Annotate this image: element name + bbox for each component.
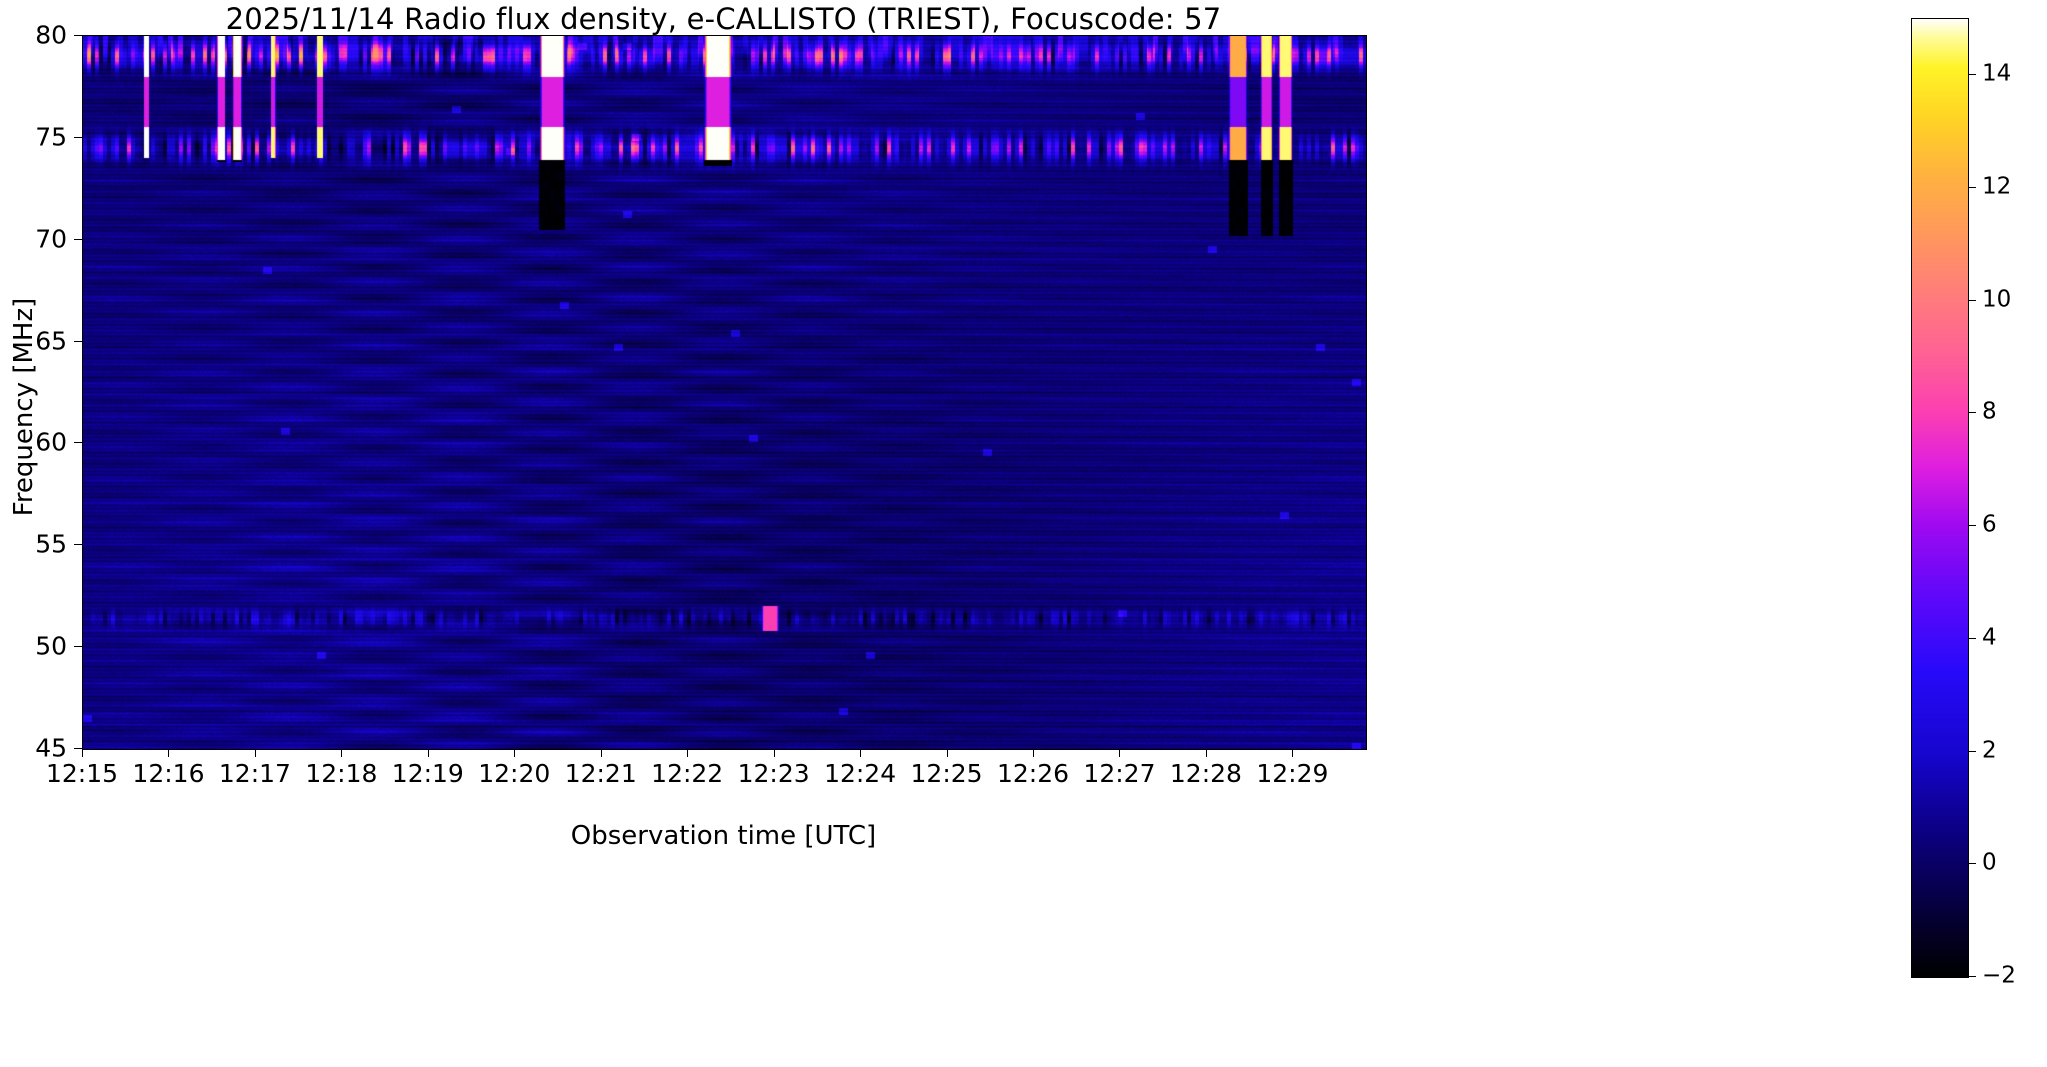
x-tick-mark [82, 749, 83, 757]
colorbar-tick-label: −2 [1982, 965, 2016, 988]
y-tick-mark [74, 35, 82, 36]
x-tick-label: 12:20 [478, 761, 550, 786]
x-tick-mark [687, 749, 688, 757]
y-tick-label: 55 [35, 532, 67, 557]
colorbar-tick-mark [1968, 751, 1976, 752]
x-axis-label: Observation time [UTC] [82, 821, 1365, 851]
x-tick-label: 12:29 [1256, 761, 1328, 786]
x-tick-mark [1206, 749, 1207, 757]
spectrogram-canvas [83, 36, 1366, 749]
x-tick-label: 12:15 [46, 761, 118, 786]
colorbar-tick-mark [1968, 300, 1976, 301]
y-tick-mark [74, 544, 82, 545]
x-tick-label: 12:21 [565, 761, 637, 786]
colorbar-tick-mark [1968, 74, 1976, 75]
colorbar-tick-label: 12 [1982, 176, 2011, 199]
y-tick-label: 65 [35, 328, 67, 353]
x-tick-mark [168, 749, 169, 757]
colorbar-tick-label: 6 [1982, 514, 1997, 537]
x-tick-mark [514, 749, 515, 757]
x-tick-mark [428, 749, 429, 757]
x-tick-label: 12:17 [219, 761, 291, 786]
x-tick-label: 12:23 [738, 761, 810, 786]
x-tick-label: 12:22 [651, 761, 723, 786]
x-tick-label: 12:26 [997, 761, 1069, 786]
y-tick-label: 50 [35, 634, 67, 659]
spectrogram-plot-area[interactable] [82, 35, 1367, 750]
x-tick-mark [860, 749, 861, 757]
y-tick-mark [74, 239, 82, 240]
colorbar-tick-label: 8 [1982, 401, 1997, 424]
y-tick-label: 75 [35, 124, 67, 149]
x-tick-label: 12:28 [1170, 761, 1242, 786]
y-tick-mark [74, 442, 82, 443]
colorbar-tick-label: 0 [1982, 852, 1997, 875]
colorbar-tick-label: 10 [1982, 288, 2011, 311]
x-tick-mark [1033, 749, 1034, 757]
x-tick-mark [947, 749, 948, 757]
colorbar-axis: 14121086420−2 [1968, 0, 2047, 1067]
colorbar-tick-mark [1968, 976, 1976, 977]
colorbar-canvas [1912, 19, 1968, 977]
y-tick-label: 70 [35, 226, 67, 251]
page-title: 2025/11/14 Radio flux density, e-CALLIST… [82, 2, 1365, 36]
colorbar-tick-mark [1968, 525, 1976, 526]
x-tick-mark [1292, 749, 1293, 757]
spectrogram-image [83, 36, 1366, 749]
x-axis: 12:1512:1612:1712:1812:1912:2012:2112:22… [0, 749, 2047, 819]
colorbar-tick-label: 2 [1982, 739, 1997, 762]
x-tick-mark [601, 749, 602, 757]
colorbar[interactable] [1911, 18, 1969, 978]
x-tick-mark [341, 749, 342, 757]
x-tick-mark [774, 749, 775, 757]
x-tick-label: 12:19 [392, 761, 464, 786]
y-tick-mark [74, 341, 82, 342]
x-tick-label: 12:24 [824, 761, 896, 786]
x-tick-label: 12:16 [132, 761, 204, 786]
y-tick-label: 60 [35, 430, 67, 455]
x-tick-label: 12:18 [305, 761, 377, 786]
colorbar-gradient [1912, 19, 1968, 977]
y-tick-label: 80 [35, 23, 67, 48]
y-tick-mark [74, 646, 82, 647]
colorbar-tick-label: 4 [1982, 626, 1997, 649]
colorbar-tick-mark [1968, 187, 1976, 188]
colorbar-tick-label: 14 [1982, 63, 2011, 86]
y-axis-label: Frequency [MHz] [9, 207, 39, 607]
x-tick-label: 12:25 [911, 761, 983, 786]
x-tick-mark [255, 749, 256, 757]
colorbar-tick-mark [1968, 412, 1976, 413]
colorbar-tick-mark [1968, 638, 1976, 639]
colorbar-tick-mark [1968, 863, 1976, 864]
x-tick-label: 12:27 [1083, 761, 1155, 786]
spectrogram-figure: 2025/11/14 Radio flux density, e-CALLIST… [0, 0, 2047, 1067]
y-tick-mark [74, 137, 82, 138]
x-tick-mark [1119, 749, 1120, 757]
